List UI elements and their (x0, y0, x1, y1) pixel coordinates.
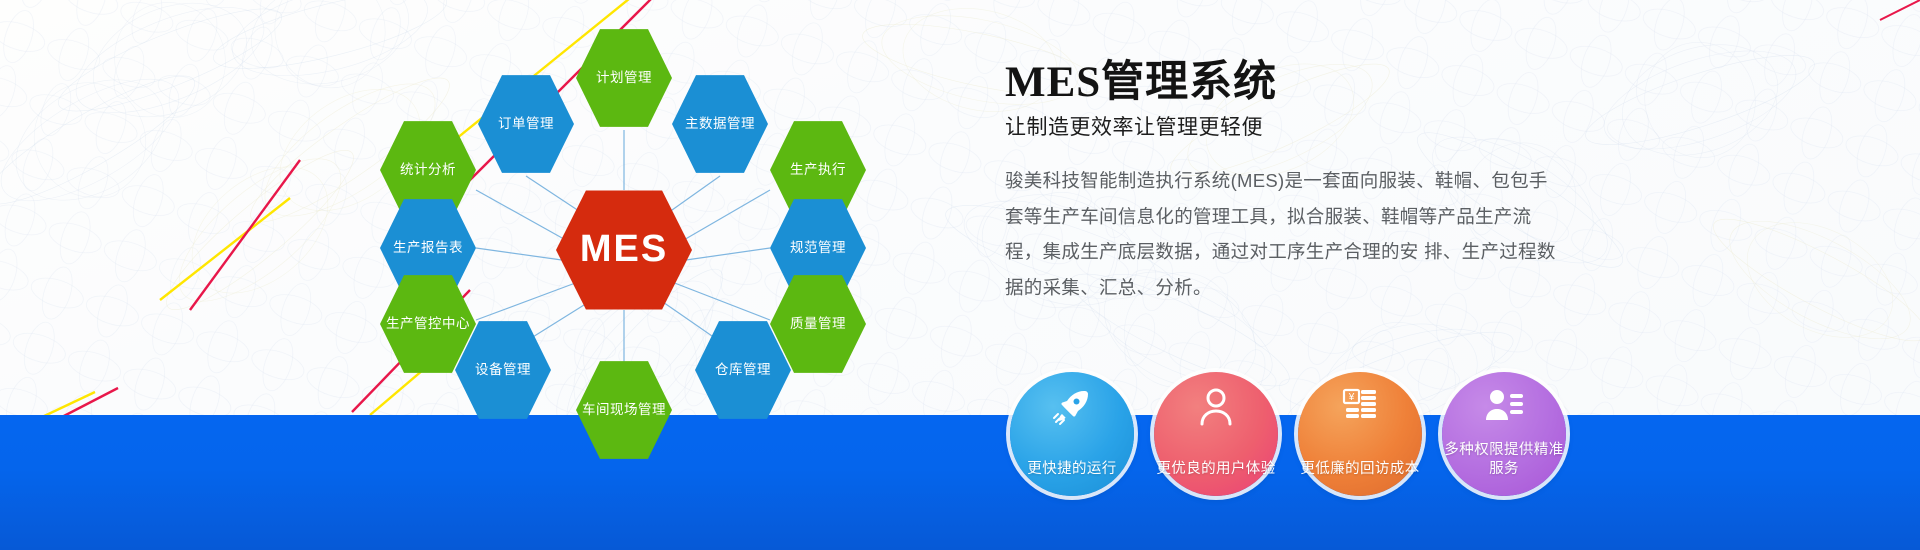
feature-badge-row: 更快捷的运行 更优良的用户体验 ¥ (1010, 372, 1566, 496)
page-subtitle: 让制造更效率让管理更轻便 (1005, 111, 1605, 141)
bottom-blue-band (0, 415, 1920, 550)
badge-faster-operation[interactable]: 更快捷的运行 (1010, 372, 1134, 496)
badge-label: 多种权限提供精准服务 (1442, 441, 1566, 480)
user-icon (1196, 386, 1236, 426)
badge-lower-revisit-cost[interactable]: ¥ 更低廉的回访成本 (1298, 372, 1422, 496)
badge-better-user-experience[interactable]: 更优良的用户体验 (1154, 372, 1278, 496)
rocket-icon (1052, 386, 1092, 426)
badge-label: 更低廉的回访成本 (1300, 460, 1419, 480)
badge-multi-permission-service[interactable]: 多种权限提供精准服务 (1442, 372, 1566, 496)
mes-promo-banner: MES 计划管理 订单管理 主数据管理 统计分析 生产执行 生产报告表 规范管理… (0, 0, 1920, 550)
description-paragraph: 骏美科技智能制造执行系统(MES)是一套面向服装、鞋帽、包包手套等生产车间信息化… (1005, 163, 1565, 305)
mes-hexagon-diagram: MES 计划管理 订单管理 主数据管理 统计分析 生产执行 生产报告表 规范管理… (380, 0, 860, 530)
badge-label: 更快捷的运行 (1027, 460, 1116, 480)
money-stack-icon: ¥ (1340, 386, 1380, 426)
svg-text:¥: ¥ (1348, 392, 1355, 403)
page-title: MES管理系统 (1005, 58, 1605, 107)
content-column: MES管理系统 让制造更效率让管理更轻便 骏美科技智能制造执行系统(MES)是一… (1005, 58, 1605, 306)
badge-label: 更优良的用户体验 (1156, 460, 1275, 480)
user-list-icon (1484, 386, 1524, 426)
